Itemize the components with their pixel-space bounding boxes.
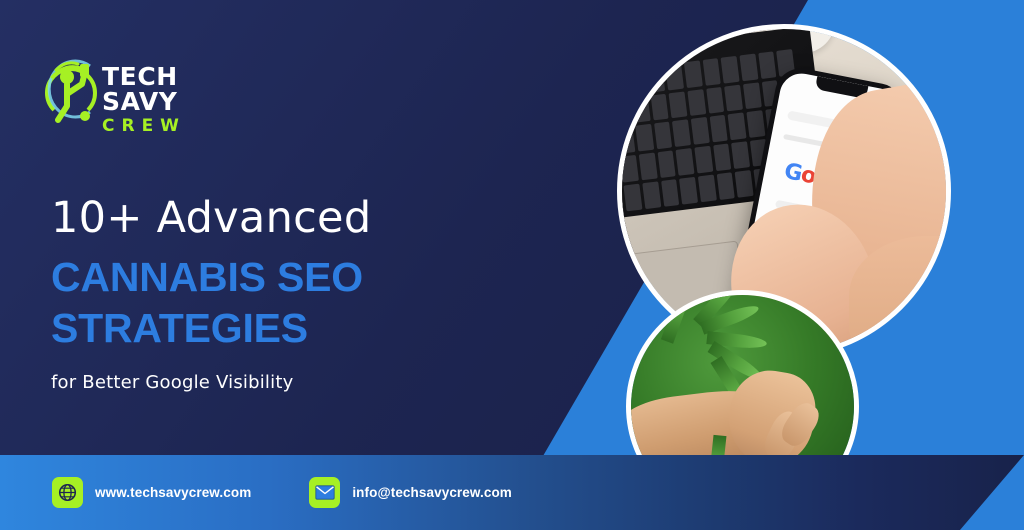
contact-website[interactable]: www.techsavycrew.com <box>52 477 251 508</box>
contact-footer-bar: www.techsavycrew.com info@techsavycrew.c… <box>0 455 1024 530</box>
envelope-icon <box>309 477 340 508</box>
brand-name-primary: TECH SAVY <box>102 64 224 114</box>
email-address-text: info@techsavycrew.com <box>352 485 512 500</box>
headline-subtitle: for Better Google Visibility <box>51 372 611 393</box>
website-url-text: www.techsavycrew.com <box>95 485 251 500</box>
brand-name-secondary: CREW <box>102 118 224 135</box>
headline-block: 10+ Advanced CANNABIS SEO STRATEGIES for… <box>51 193 611 393</box>
brand-logo[interactable]: TECH SAVY CREW <box>44 48 224 126</box>
headline-line-2: CANNABIS SEO STRATEGIES <box>51 252 611 355</box>
antenna-person-circle-icon <box>44 50 102 124</box>
promo-banner: Google <box>0 0 1024 530</box>
brand-wordmark: TECH SAVY CREW <box>102 64 224 135</box>
globe-icon <box>52 477 83 508</box>
contact-email[interactable]: info@techsavycrew.com <box>309 477 512 508</box>
headline-line-1: 10+ Advanced <box>51 193 611 244</box>
